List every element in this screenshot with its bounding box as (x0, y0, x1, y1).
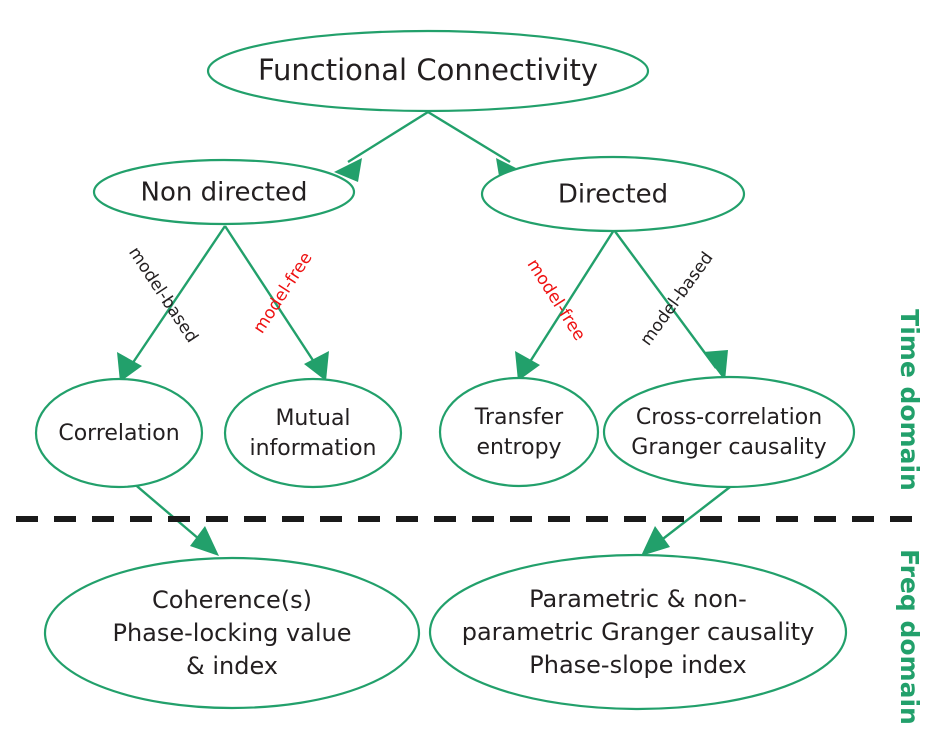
arrow-head-icon (641, 526, 670, 556)
edge-label-model-free-directed: model-free (523, 256, 590, 345)
node-ellipse (604, 377, 854, 487)
node-label-mutual-information-line2: information (250, 436, 377, 461)
node-label-granger-freq-line2: parametric Granger causality (462, 618, 815, 646)
domain-label-time: Time domain (895, 309, 924, 491)
edge-labels-layer: model-based model-free model-free model-… (124, 243, 717, 349)
node-label-transfer-entropy-line1: Transfer (474, 405, 564, 430)
node-label-non-directed: Non directed (141, 178, 308, 208)
node-non-directed[interactable]: Non directed (94, 160, 354, 224)
node-mutual-information[interactable]: Mutual information (225, 379, 401, 487)
edge-label-model-based-non-directed: model-based (124, 243, 202, 346)
arrow-head-icon (515, 351, 540, 381)
node-granger-freq[interactable]: Parametric & non- parametric Granger cau… (430, 555, 846, 709)
diagram-canvas: model-based model-free model-free model-… (0, 0, 938, 750)
domain-label-freq: Freq domain (895, 549, 924, 725)
node-label-granger-freq-line1: Parametric & non- (529, 585, 747, 613)
edge-root-to-non-directed (334, 112, 428, 182)
node-label-coherence-line1: Coherence(s) (152, 586, 312, 614)
node-directed[interactable]: Directed (482, 157, 744, 231)
node-label-coherence-line2: Phase-locking value (112, 619, 351, 647)
arrow-head-icon (304, 351, 329, 381)
node-label-transfer-entropy-line2: entropy (476, 435, 561, 460)
node-label-correlation: Correlation (58, 421, 179, 446)
node-label-cross-correlation-line2: Granger causality (631, 435, 826, 460)
node-label-coherence-line3: & index (186, 652, 278, 680)
node-ellipse (225, 379, 401, 487)
arrow-head-icon (190, 526, 219, 556)
node-transfer-entropy[interactable]: Transfer entropy (440, 378, 598, 486)
node-label-cross-correlation-line1: Cross-correlation (636, 405, 822, 430)
node-ellipse (440, 378, 598, 486)
node-label-mutual-information-line1: Mutual (275, 406, 350, 431)
node-label-directed: Directed (558, 180, 668, 210)
node-correlation[interactable]: Correlation (36, 379, 202, 487)
node-label-functional-connectivity: Functional Connectivity (258, 53, 598, 87)
node-functional-connectivity[interactable]: Functional Connectivity (208, 31, 648, 111)
edge-label-model-free-non-directed: model-free (249, 249, 316, 338)
node-label-granger-freq-line3: Phase-slope index (529, 651, 746, 679)
nodes-layer: Functional Connectivity Non directed Dir… (36, 31, 854, 709)
node-cross-correlation[interactable]: Cross-correlation Granger causality (604, 377, 854, 487)
node-coherence[interactable]: Coherence(s) Phase-locking value & index (45, 558, 419, 708)
edge-label-model-based-directed: model-based (636, 248, 717, 349)
functional-connectivity-diagram: model-based model-free model-free model-… (0, 0, 938, 750)
